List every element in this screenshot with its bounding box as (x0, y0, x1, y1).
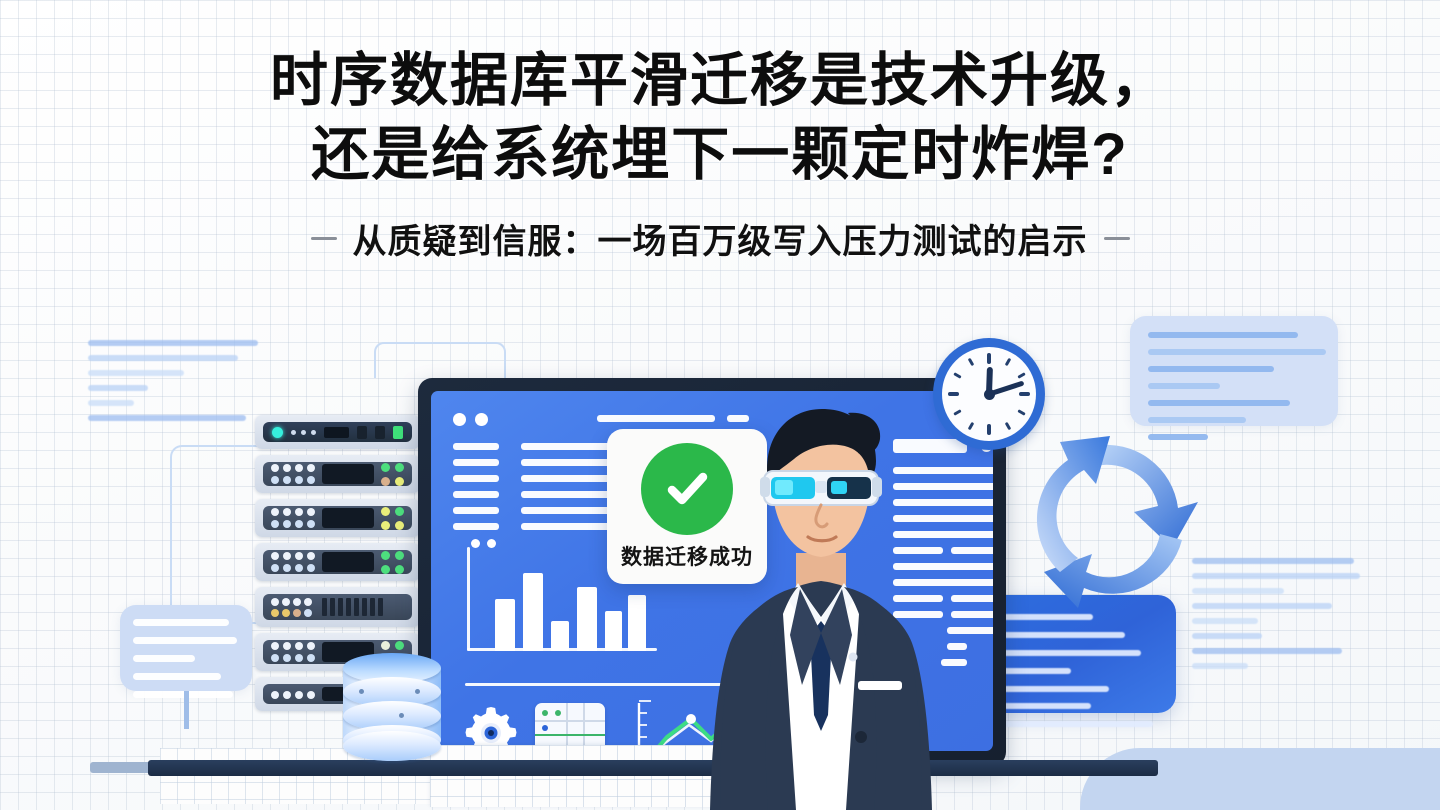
code-panel-right-top (1130, 316, 1338, 426)
dash-left-icon (311, 237, 337, 240)
code-panel-left-top (88, 340, 264, 430)
rack-unit-top (255, 415, 420, 449)
rack-unit-4 (255, 587, 420, 627)
rack-unit-3 (255, 543, 420, 581)
clock-face (942, 347, 1036, 441)
page-title-line-2: 还是给系统埋下一颗定时炸焊? (0, 122, 1440, 188)
connector-line-top (374, 342, 506, 378)
desk-surface (148, 760, 1158, 776)
dash-right-icon (1104, 237, 1130, 240)
page-subtitle: 从质疑到信服：一场百万级写入压力测试的启示 (353, 214, 1088, 263)
spreadsheet-icon (535, 703, 605, 751)
clock-pivot (984, 389, 995, 400)
page-title-line-1: 时序数据库平滑迁移是技术升级， (0, 48, 1440, 114)
poster-canvas: 时序数据库平滑迁移是技术升级， 还是给系统埋下一颗定时炸焊? 从质疑到信服：一场… (0, 0, 1440, 810)
info-card-left-bottom (120, 605, 252, 691)
card-stem (184, 691, 189, 729)
connector-line-left (170, 445, 268, 624)
poster-header: 时序数据库平滑迁移是技术升级， 还是给系统埋下一颗定时炸焊? 从质疑到信服：一场… (0, 0, 1440, 263)
illustration-scene: 数据迁移成功 (0, 300, 1440, 810)
power-led-icon (272, 427, 283, 438)
engineer-avatar (690, 385, 952, 810)
subtitle-row: 从质疑到信服：一场百万级写入压力测试的启示 (0, 214, 1440, 263)
database-cylinder (343, 653, 441, 761)
rack-unit-1 (255, 455, 420, 493)
circular-sync-arrows (1022, 422, 1208, 608)
rack-unit-2 (255, 499, 420, 537)
code-panel-right-bottom (1192, 558, 1360, 678)
gear-icon (461, 703, 521, 751)
background-blob (1080, 748, 1440, 810)
